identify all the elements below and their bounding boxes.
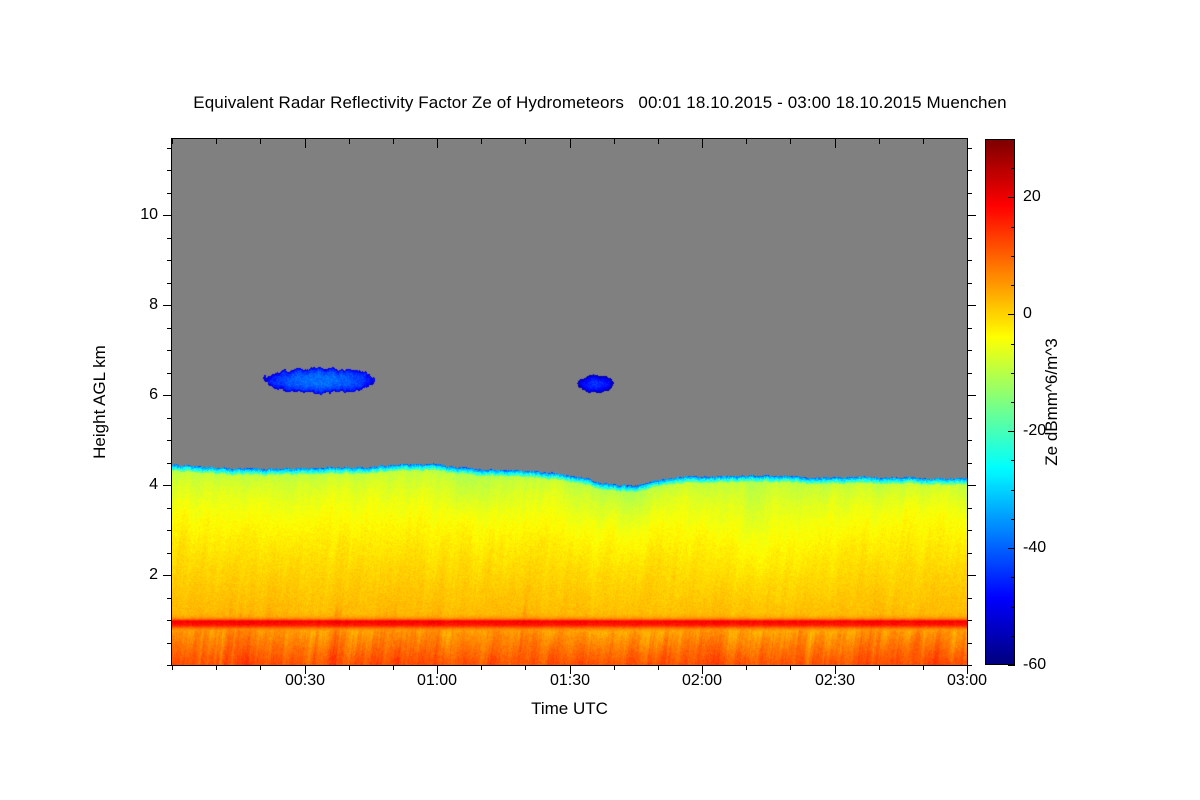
x-axis-major-tick (835, 139, 836, 148)
colorbar-major-tick (1008, 197, 1015, 198)
y-axis-minor-tick (167, 643, 172, 644)
colorbar-tick-label: -40 (1023, 539, 1046, 557)
colorbar-minor-tick (1011, 285, 1015, 286)
x-axis-minor-tick (525, 139, 526, 144)
colorbar-major-tick (1008, 548, 1015, 549)
y-axis-minor-tick (967, 170, 972, 171)
colorbar-minor-tick (1011, 256, 1015, 257)
x-axis-minor-tick (614, 665, 615, 670)
colorbar-tick-label: 20 (1023, 188, 1041, 206)
x-axis-minor-tick (349, 139, 350, 144)
x-axis-minor-tick (923, 665, 924, 670)
x-axis-tick-label: 01:30 (550, 672, 590, 690)
colorbar-tick-label: -60 (1023, 656, 1046, 674)
x-axis-minor-tick (790, 665, 791, 670)
x-axis-minor-tick (260, 139, 261, 144)
x-axis-minor-tick (658, 665, 659, 670)
y-axis-minor-tick (167, 238, 172, 239)
y-axis-minor-tick (167, 260, 172, 261)
y-axis-minor-tick (167, 620, 172, 621)
x-axis-major-tick (437, 139, 438, 148)
y-axis-minor-tick (967, 328, 972, 329)
y-axis-minor-tick (167, 553, 172, 554)
y-axis-minor-tick (167, 665, 172, 666)
y-axis-tick-label: 4 (149, 476, 158, 494)
y-axis-minor-tick (967, 440, 972, 441)
x-axis-minor-tick (172, 139, 173, 144)
colorbar-major-tick (1008, 665, 1015, 666)
x-axis-major-tick (570, 139, 571, 148)
y-axis-minor-tick (167, 373, 172, 374)
x-axis-minor-tick (746, 139, 747, 144)
colorbar-minor-tick (1011, 402, 1015, 403)
y-axis-minor-tick (967, 148, 972, 149)
x-axis-tick-label: 01:00 (417, 672, 457, 690)
y-axis-minor-tick (167, 440, 172, 441)
x-axis-minor-tick (923, 139, 924, 144)
y-axis-tick-label: 6 (149, 386, 158, 404)
y-axis-minor-tick (167, 508, 172, 509)
x-axis-minor-tick (172, 665, 173, 670)
y-axis-major-tick (967, 215, 976, 216)
reflectivity-heatmap[interactable] (172, 139, 967, 665)
x-axis-major-tick (967, 139, 968, 148)
y-axis-minor-tick (967, 260, 972, 261)
y-axis-major-tick (163, 395, 172, 396)
colorbar-minor-tick (1011, 227, 1015, 228)
x-axis-minor-tick (216, 665, 217, 670)
colorbar-minor-tick (1011, 577, 1015, 578)
y-axis-minor-tick (167, 530, 172, 531)
y-axis-minor-tick (967, 238, 972, 239)
x-axis-tick-label: 03:00 (947, 672, 987, 690)
y-axis-minor-tick (167, 350, 172, 351)
x-axis-major-tick (305, 139, 306, 148)
y-axis-minor-tick (167, 463, 172, 464)
y-axis-minor-tick (167, 148, 172, 149)
y-axis-tick-label: 8 (149, 296, 158, 314)
y-axis-minor-tick (967, 463, 972, 464)
colorbar-major-tick (1008, 314, 1015, 315)
y-axis-major-tick (967, 395, 976, 396)
y-axis-minor-tick (967, 373, 972, 374)
colorbar-tick-label: 0 (1023, 305, 1032, 323)
x-axis-minor-tick (746, 665, 747, 670)
x-axis-minor-tick (481, 139, 482, 144)
y-axis-tick-label: 2 (149, 566, 158, 584)
colorbar-minor-tick (1011, 607, 1015, 608)
colorbar-minor-tick (1011, 344, 1015, 345)
x-axis-minor-tick (790, 139, 791, 144)
x-axis-minor-tick (879, 665, 880, 670)
x-axis-title: Time UTC (172, 699, 967, 719)
y-axis-major-tick (163, 575, 172, 576)
x-axis-minor-tick (879, 139, 880, 144)
y-axis-minor-tick (167, 283, 172, 284)
x-axis-minor-tick (393, 139, 394, 144)
y-axis-minor-tick (967, 193, 972, 194)
colorbar-minor-tick (1011, 636, 1015, 637)
y-axis-major-tick (967, 305, 976, 306)
y-axis-minor-tick (167, 328, 172, 329)
y-axis-minor-tick (967, 350, 972, 351)
colorbar-minor-tick (1011, 139, 1015, 140)
y-axis-minor-tick (967, 553, 972, 554)
colorbar-minor-tick (1011, 490, 1015, 491)
y-axis-major-tick (163, 485, 172, 486)
y-axis-minor-tick (167, 598, 172, 599)
y-axis-minor-tick (967, 508, 972, 509)
y-axis-title: Height AGL km (90, 345, 110, 459)
colorbar-title: Ze dBmm^6/m^3 (1042, 338, 1062, 465)
x-axis-minor-tick (393, 665, 394, 670)
x-axis-minor-tick (349, 665, 350, 670)
x-axis-tick-label: 00:30 (285, 672, 325, 690)
colorbar-minor-tick (1011, 460, 1015, 461)
y-axis-major-tick (163, 305, 172, 306)
colorbar-minor-tick (1011, 519, 1015, 520)
y-axis-minor-tick (167, 193, 172, 194)
colorbar-major-tick (1008, 431, 1015, 432)
plot-area[interactable] (171, 138, 968, 666)
x-axis-minor-tick (658, 139, 659, 144)
y-axis-major-tick (967, 575, 976, 576)
y-axis-minor-tick (967, 598, 972, 599)
page-title: Equivalent Radar Reflectivity Factor Ze … (0, 93, 1200, 113)
y-axis-minor-tick (967, 643, 972, 644)
x-axis-tick-label: 02:00 (682, 672, 722, 690)
x-axis-minor-tick (525, 665, 526, 670)
x-axis-tick-label: 02:30 (815, 672, 855, 690)
x-axis-minor-tick (614, 139, 615, 144)
y-axis-minor-tick (167, 418, 172, 419)
x-axis-minor-tick (260, 665, 261, 670)
y-axis-minor-tick (967, 665, 972, 666)
y-axis-minor-tick (967, 283, 972, 284)
y-axis-minor-tick (967, 418, 972, 419)
y-axis-minor-tick (167, 170, 172, 171)
y-axis-major-tick (967, 485, 976, 486)
colorbar-minor-tick (1011, 373, 1015, 374)
y-axis-minor-tick (967, 620, 972, 621)
x-axis-minor-tick (216, 139, 217, 144)
colorbar-minor-tick (1011, 168, 1015, 169)
x-axis-major-tick (702, 139, 703, 148)
radar-figure: Equivalent Radar Reflectivity Factor Ze … (0, 0, 1200, 800)
y-axis-tick-label: 10 (140, 206, 158, 224)
y-axis-major-tick (163, 215, 172, 216)
x-axis-minor-tick (481, 665, 482, 670)
y-axis-minor-tick (967, 530, 972, 531)
